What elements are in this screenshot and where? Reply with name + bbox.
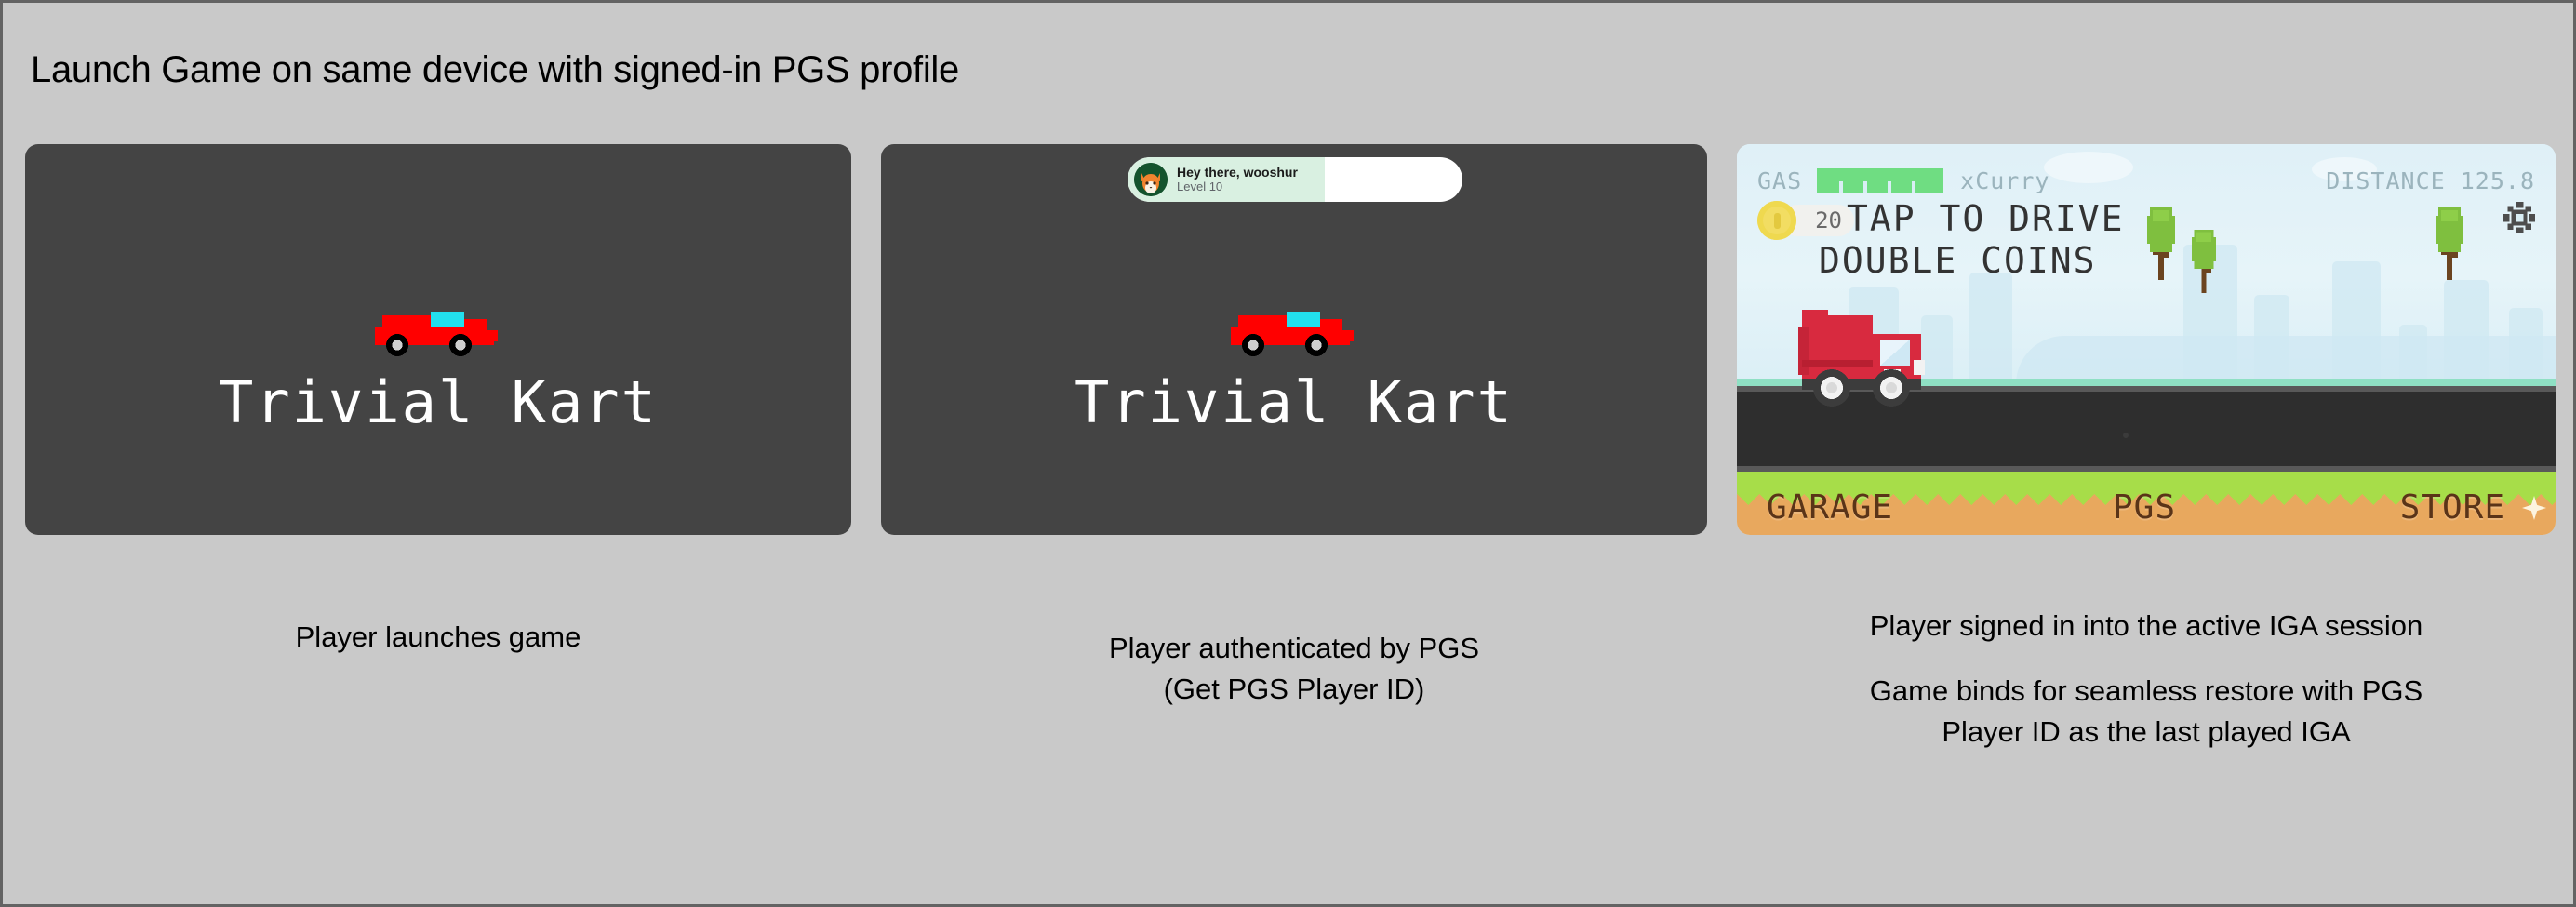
caption-line: Player launches game xyxy=(25,617,851,658)
hud-top-row: GAS xCurry DISTANCE 125.8 xyxy=(1737,165,2556,196)
caption-spacer xyxy=(1737,647,2556,671)
nav-pgs[interactable]: PGS xyxy=(2113,488,2176,527)
player-nickname: xCurry xyxy=(1960,167,2049,194)
race-car-icon xyxy=(1223,300,1365,361)
caption-panel-3: Player signed in into the active IGA ses… xyxy=(1737,606,2556,753)
pgs-signin-toast[interactable]: Hey there, wooshur Level 10 xyxy=(1128,157,1462,202)
tree-icon xyxy=(2144,207,2178,280)
gear-icon[interactable] xyxy=(2503,202,2535,233)
panel-launch-splash: Trivial Kart xyxy=(25,144,851,535)
gas-gauge xyxy=(1817,168,1943,193)
caption-line: Player signed in into the active IGA ses… xyxy=(1737,606,2556,647)
building-shape xyxy=(1969,273,2012,384)
coin-counter: 20 xyxy=(1757,202,1796,239)
caption-panel-1: Player launches game xyxy=(25,617,851,658)
game-title: Trivial Kart xyxy=(1074,374,1514,432)
double-coins-text: DOUBLE COINS xyxy=(1819,240,2125,282)
tree-icon xyxy=(2433,207,2466,280)
hill-shape xyxy=(2016,336,2556,384)
panel-pgs-signin-splash: Trivial Kart Hey there, wooshur xyxy=(881,144,1707,535)
nav-store[interactable]: STORE xyxy=(2400,488,2505,527)
tree-icon xyxy=(2189,230,2219,293)
tap-to-drive-text: TAP TO DRIVE xyxy=(1847,198,2125,240)
toast-greeting: Hey there, wooshur xyxy=(1177,165,1298,180)
toast-text-group: Hey there, wooshur Level 10 xyxy=(1177,165,1298,193)
game-bottom-nav: GARAGE PGS STORE xyxy=(1737,481,2556,535)
toast-level: Level 10 xyxy=(1177,180,1298,194)
fox-avatar-icon xyxy=(1134,163,1168,196)
road-speck xyxy=(2123,433,2129,438)
page-title: Launch Game on same device with signed-i… xyxy=(31,49,959,91)
diagram-canvas: Launch Game on same device with signed-i… xyxy=(0,0,2576,907)
gameplay-prompt: TAP TO DRIVE DOUBLE COINS xyxy=(1847,198,2125,282)
race-car-icon xyxy=(367,300,509,361)
panel-active-gameplay: GAS xCurry DISTANCE 125.8 20 TAP TO DRIV… xyxy=(1737,144,2556,535)
coin-icon xyxy=(1757,201,1796,240)
caption-line: (Get PGS Player ID) xyxy=(881,669,1707,710)
nav-garage[interactable]: GARAGE xyxy=(1767,488,1893,527)
caption-line: Game binds for seamless restore with PGS xyxy=(1737,671,2556,712)
caption-line: Player ID as the last played IGA xyxy=(1737,712,2556,753)
sparkle-icon xyxy=(2522,496,2546,520)
game-splash-screen: Trivial Kart xyxy=(881,144,1707,535)
distance-readout: DISTANCE 125.8 xyxy=(2326,167,2535,194)
caption-panel-2: Player authenticated by PGS (Get PGS Pla… xyxy=(881,628,1707,710)
game-title: Trivial Kart xyxy=(219,374,658,432)
gas-label: GAS xyxy=(1757,167,1802,194)
game-splash-screen: Trivial Kart xyxy=(25,144,851,535)
caption-line: Player authenticated by PGS xyxy=(881,628,1707,669)
delivery-truck-icon xyxy=(1795,304,1964,407)
